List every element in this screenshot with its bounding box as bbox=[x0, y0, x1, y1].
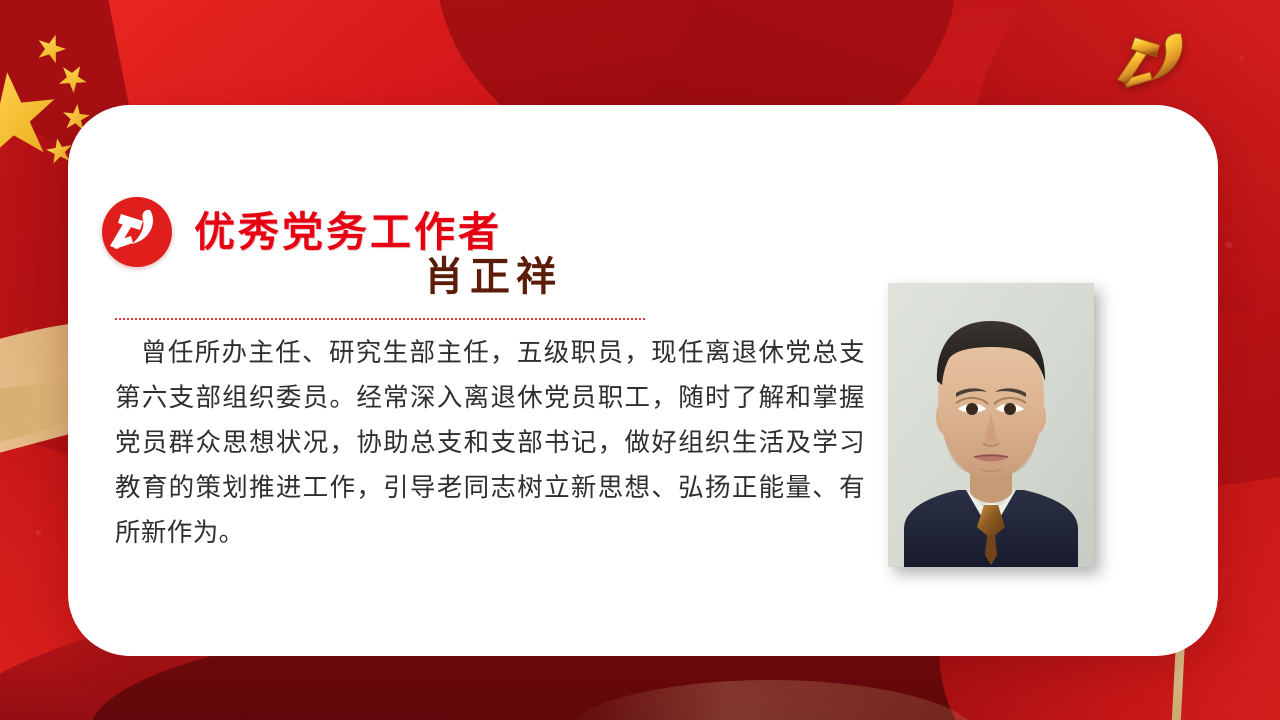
flag-star-small-1 bbox=[32, 30, 70, 68]
biography-text: 曾任所办主任、研究生部主任，五级职员，现任离退休党总支第六支部组织委员。经常深入… bbox=[115, 331, 865, 556]
portrait-photo bbox=[888, 283, 1094, 567]
gold-party-emblem-icon bbox=[1106, 24, 1202, 100]
dotted-divider bbox=[115, 318, 645, 320]
page-title: 优秀党务工作者 bbox=[194, 212, 502, 253]
party-emblem-hammer-sickle-icon bbox=[102, 197, 172, 267]
flag-star-large bbox=[0, 67, 63, 168]
content-card: 优秀党务工作者 肖正祥 曾任所办主任、研究生部主任，五级职员，现任离退休党总支第… bbox=[68, 105, 1218, 656]
person-name: 肖正祥 bbox=[424, 257, 562, 297]
flag-star-small-2 bbox=[53, 59, 93, 99]
